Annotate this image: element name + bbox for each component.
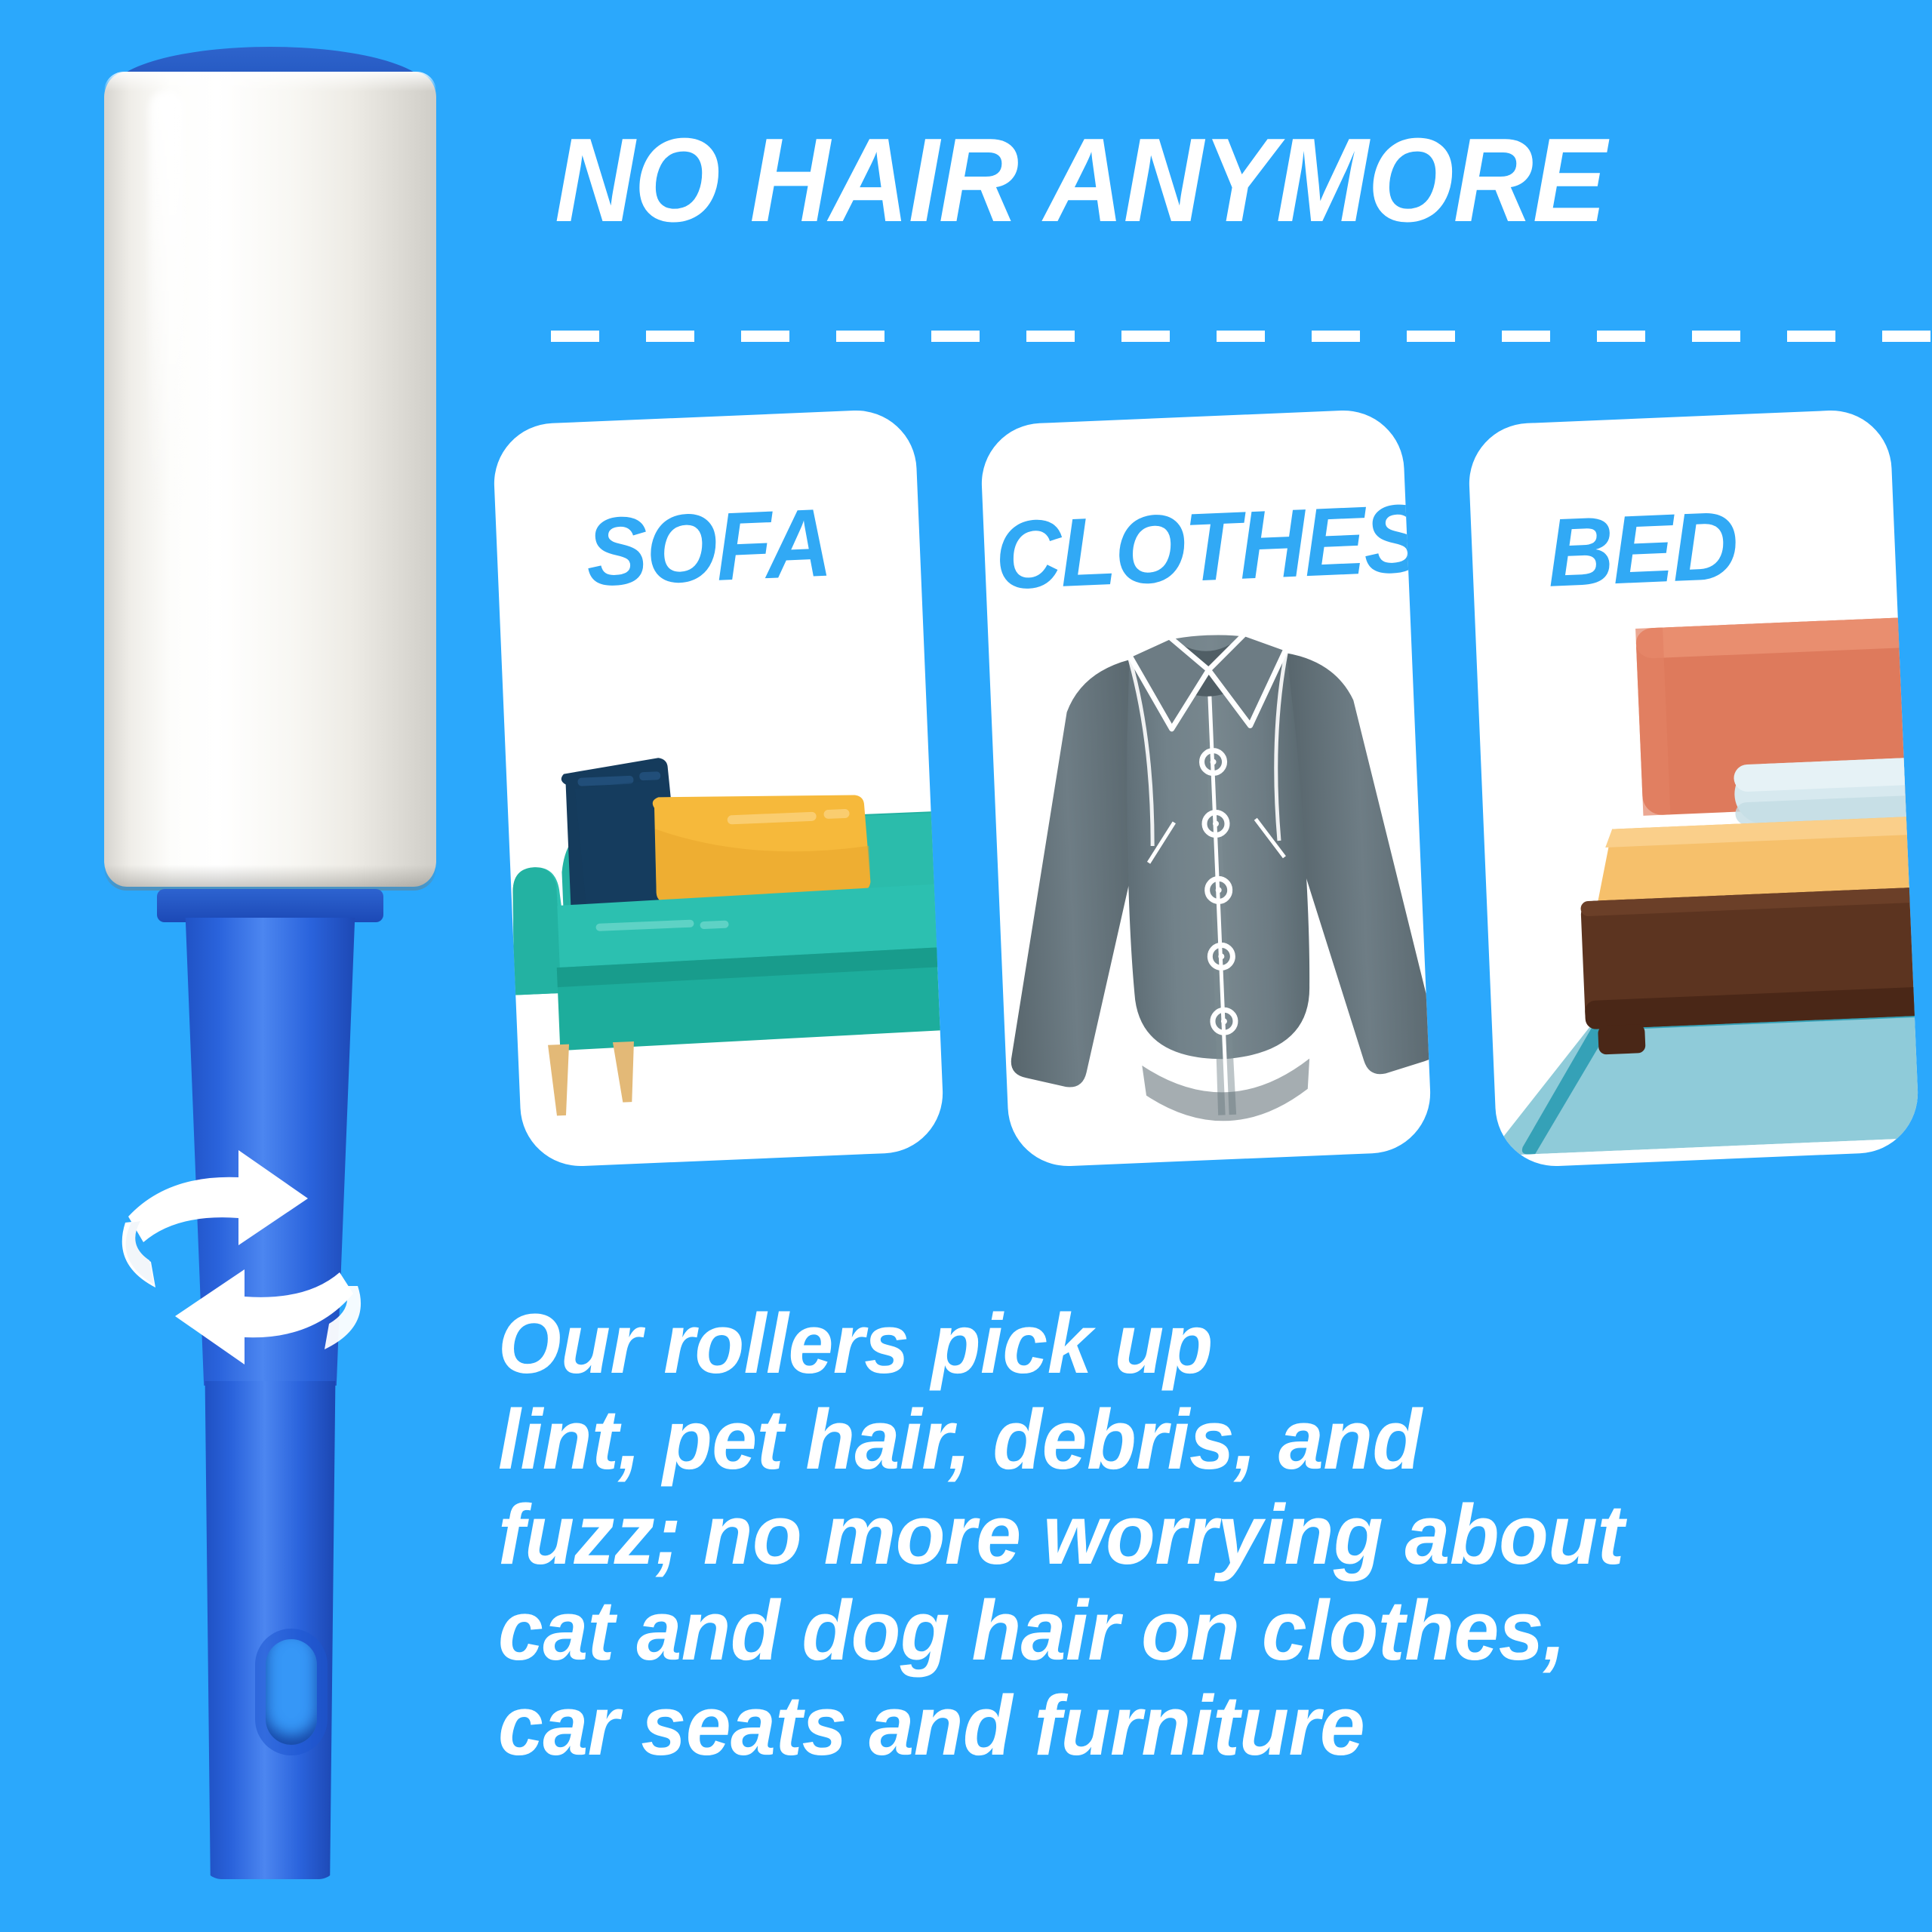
roller-bottom-shadow [104,865,436,891]
lint-roller-product [0,0,574,1932]
description-line-2: lint, pet hair, debris, and [498,1392,1875,1488]
infographic-canvas: NO HAIR ANYMORE SOFA [0,0,1932,1932]
feature-card-label-bed: BED [1482,489,1920,605]
roller-hang-hole [266,1639,317,1745]
dress-shirt-icon [980,585,1433,1168]
feature-card-label-clothes: CLOTHES [993,491,1398,605]
description-line-5: car seats and furniture [498,1678,1875,1774]
roller-handle-flange [157,889,383,922]
description-line-3: fuzz; no more worrying about [498,1487,1875,1583]
feature-card-clothes[interactable]: CLOTHES [980,408,1433,1169]
feature-card-bed[interactable]: BED [1467,408,1921,1169]
bed-icon [1471,606,1921,1156]
roller-gloss-highlight [149,91,184,513]
rotation-arrows-icon [98,1132,385,1389]
description-line-4: cat and dog hair on clothes, [498,1583,1875,1679]
roller-handle-grip [202,1381,338,1879]
description-line-1: Our rollers pick up [498,1297,1875,1392]
description-text: Our rollers pick up lint, pet hair, debr… [498,1297,1875,1774]
